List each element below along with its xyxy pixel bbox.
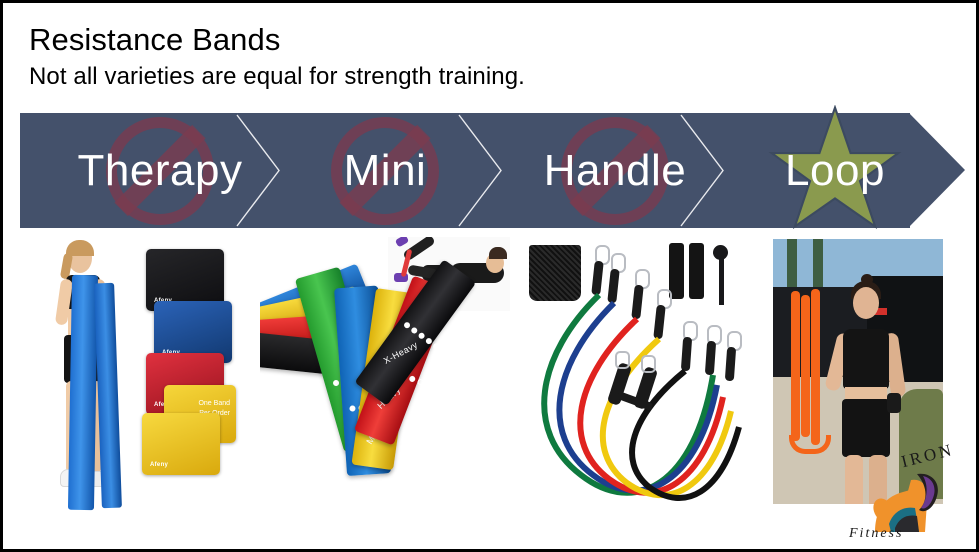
slide: Resistance Bands Not all varieties are e… [0,0,979,552]
loop-band-strap [811,289,820,445]
dot-filled [410,326,418,334]
mini-band-photo: X-Light Light [260,235,512,540]
palm-tree [813,239,823,292]
banner-segment-therapy[interactable]: Therapy [60,113,260,228]
dot-filled [432,342,440,350]
page-subtitle: Not all varieties are equal for strength… [29,62,929,92]
dot-empty [417,378,425,386]
loop-band-photo: IRON Fitness [765,235,965,540]
banner-segment-label: Loop [785,149,885,193]
banner-segment-handle[interactable]: Handle [520,113,710,228]
process-arrow-banner: Therapy Mini Handle Loop [20,113,965,228]
head [853,287,879,319]
mini-band-label: X-Heavy [382,340,420,366]
dot-filled [425,337,433,345]
loop-band-bottom-curve [789,435,831,454]
handle-band-photo [517,235,760,540]
dot-filled [417,332,425,340]
heading-block: Resistance Bands Not all varieties are e… [29,21,929,92]
sports-bra [843,329,889,389]
band-overlay-line1: One Band [198,399,230,408]
loop-band-strap [791,291,800,441]
banner-segment-mini[interactable]: Mini [305,113,465,228]
photo-strip: Afeny Afeny Afeny One Band Per Order Afe… [20,235,965,540]
banner-segment-loop[interactable]: Loop [745,113,925,228]
therapy-band-strip [68,275,98,510]
flat-band-stack: Afeny Afeny Afeny One Band Per Order Afe… [140,245,250,485]
therapy-band-photo: Afeny Afeny Afeny One Band Per Order Afe… [20,235,255,540]
flat-band-yellow: Afeny [142,413,220,475]
dot-filled [349,405,355,411]
loop-band-strap [801,295,810,437]
palm-tree [787,239,797,292]
dot-filled [332,379,339,386]
dot-filled [403,321,411,329]
flat-band-brand: Afeny [150,462,168,468]
banner-segment-label: Therapy [78,149,243,193]
page-title: Resistance Bands [29,21,929,59]
dot-filled [408,375,416,383]
banner-segment-label: Handle [544,149,686,193]
iron-fitness-logo: IRON Fitness [843,438,961,540]
logo-secondary-text: Fitness [849,526,903,540]
glove [887,393,901,413]
banner-segment-label: Mini [344,149,427,193]
